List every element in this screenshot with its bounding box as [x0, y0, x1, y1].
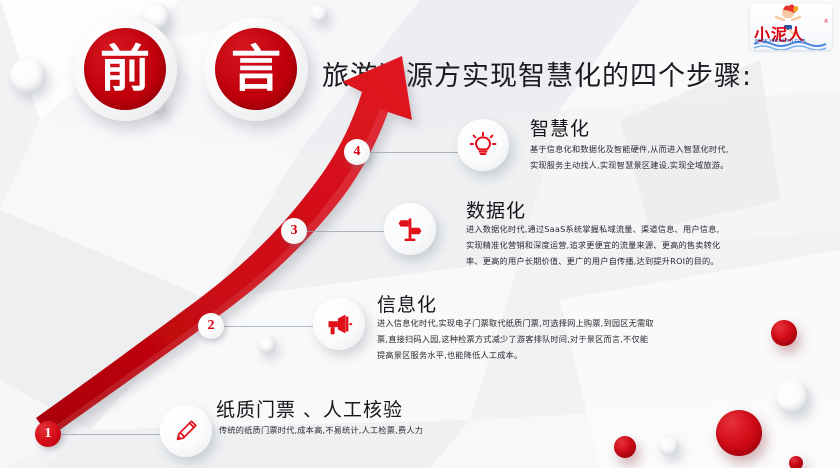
step-desc-line: 实现精准化营销和深度运营,追求更便宜的流量来源、更高的售卖转化	[466, 238, 720, 254]
step-desc-4: 基于信息化和数据化及智能硬件,从而进入智慧化时代, 实现服务主动找人,实现智慧景…	[530, 142, 729, 174]
step-icon-disc-2[interactable]	[313, 298, 365, 350]
step-desc-line: 率、更高的用户长期价值、更广的用户自传播,达到提升ROI的目的。	[466, 254, 720, 270]
lightbulb-icon	[469, 131, 497, 159]
connector-line-2	[219, 326, 321, 327]
section-token-2: 言	[204, 17, 308, 121]
signpost-icon	[397, 216, 423, 242]
decor-sphere	[716, 410, 762, 456]
step-badge-1[interactable]: 1	[35, 421, 61, 447]
decor-sphere	[614, 436, 636, 458]
step-badge-2[interactable]: 2	[198, 313, 224, 339]
slide-canvas: 前 言 旅游资源方实现智慧化的四个步骤: 小泥人 ® www.xiaoniren…	[0, 0, 840, 468]
step-title-2: 信息化	[377, 290, 437, 317]
step-icon-disc-4[interactable]	[457, 119, 509, 171]
step-desc-1: 传统的纸质门票时代,成本高,不易统计,人工检票,费人力	[219, 423, 423, 439]
section-token-2-disc: 言	[215, 28, 297, 110]
step-desc-2: 进入信息化时代,实现电子门票取代纸质门票,可选择网上购票,到园区无需取 票,直接…	[377, 316, 654, 364]
decor-sphere	[775, 380, 809, 414]
page-title: 旅游资源方实现智慧化的四个步骤:	[322, 54, 752, 93]
section-token-1-disc: 前	[84, 28, 166, 110]
step-icon-disc-1[interactable]	[160, 405, 212, 457]
step-desc-line: 进入数据化时代,通过SaaS系统掌握私域流量、渠道信息、用户信息,	[466, 222, 720, 238]
decor-sphere	[310, 5, 328, 23]
step-badge-3[interactable]: 3	[281, 218, 307, 244]
megaphone-icon	[325, 310, 353, 338]
step-title-3: 数据化	[466, 196, 526, 223]
step-desc-line: 实现服务主动找人,实现智慧景区建设,实现全域旅游。	[530, 158, 729, 174]
step-icon-disc-3[interactable]	[384, 203, 436, 255]
decor-sphere	[789, 456, 803, 468]
brand-logo: 小泥人 ® www.xiaoniren.com	[750, 4, 832, 50]
section-token-1: 前	[73, 17, 177, 121]
step-desc-line: 提高景区服务水平,也能降低人工成本。	[377, 348, 654, 364]
step-desc-line: 传统的纸质门票时代,成本高,不易统计,人工检票,费人力	[219, 423, 423, 439]
step-title-4: 智慧化	[530, 114, 590, 141]
decor-sphere	[771, 320, 797, 346]
step-badge-4[interactable]: 4	[344, 139, 370, 165]
pencil-icon	[172, 417, 200, 445]
logo-url-text: www.xiaoniren.com	[755, 38, 806, 44]
section-token-2-char: 言	[231, 44, 281, 94]
step-desc-line: 票,直接扫码入园,这种检票方式减少了游客排队时间,对于景区而言,不仅能	[377, 332, 654, 348]
connector-line-1	[55, 434, 167, 435]
step-desc-line: 进入信息化时代,实现电子门票取代纸质门票,可选择网上购票,到园区无需取	[377, 316, 654, 332]
registered-mark-icon: ®	[824, 19, 828, 25]
step-title-1: 纸质门票 、人工核验	[216, 395, 403, 422]
section-token-1-char: 前	[100, 44, 150, 94]
decor-sphere	[258, 336, 276, 354]
decor-sphere	[659, 436, 679, 456]
connector-line-4	[368, 152, 460, 153]
step-desc-line: 基于信息化和数据化及智能硬件,从而进入智慧化时代,	[530, 142, 729, 158]
connector-line-3	[301, 231, 391, 232]
step-desc-3: 进入数据化时代,通过SaaS系统掌握私域流量、渠道信息、用户信息, 实现精准化营…	[466, 222, 720, 270]
decor-sphere	[10, 58, 46, 94]
